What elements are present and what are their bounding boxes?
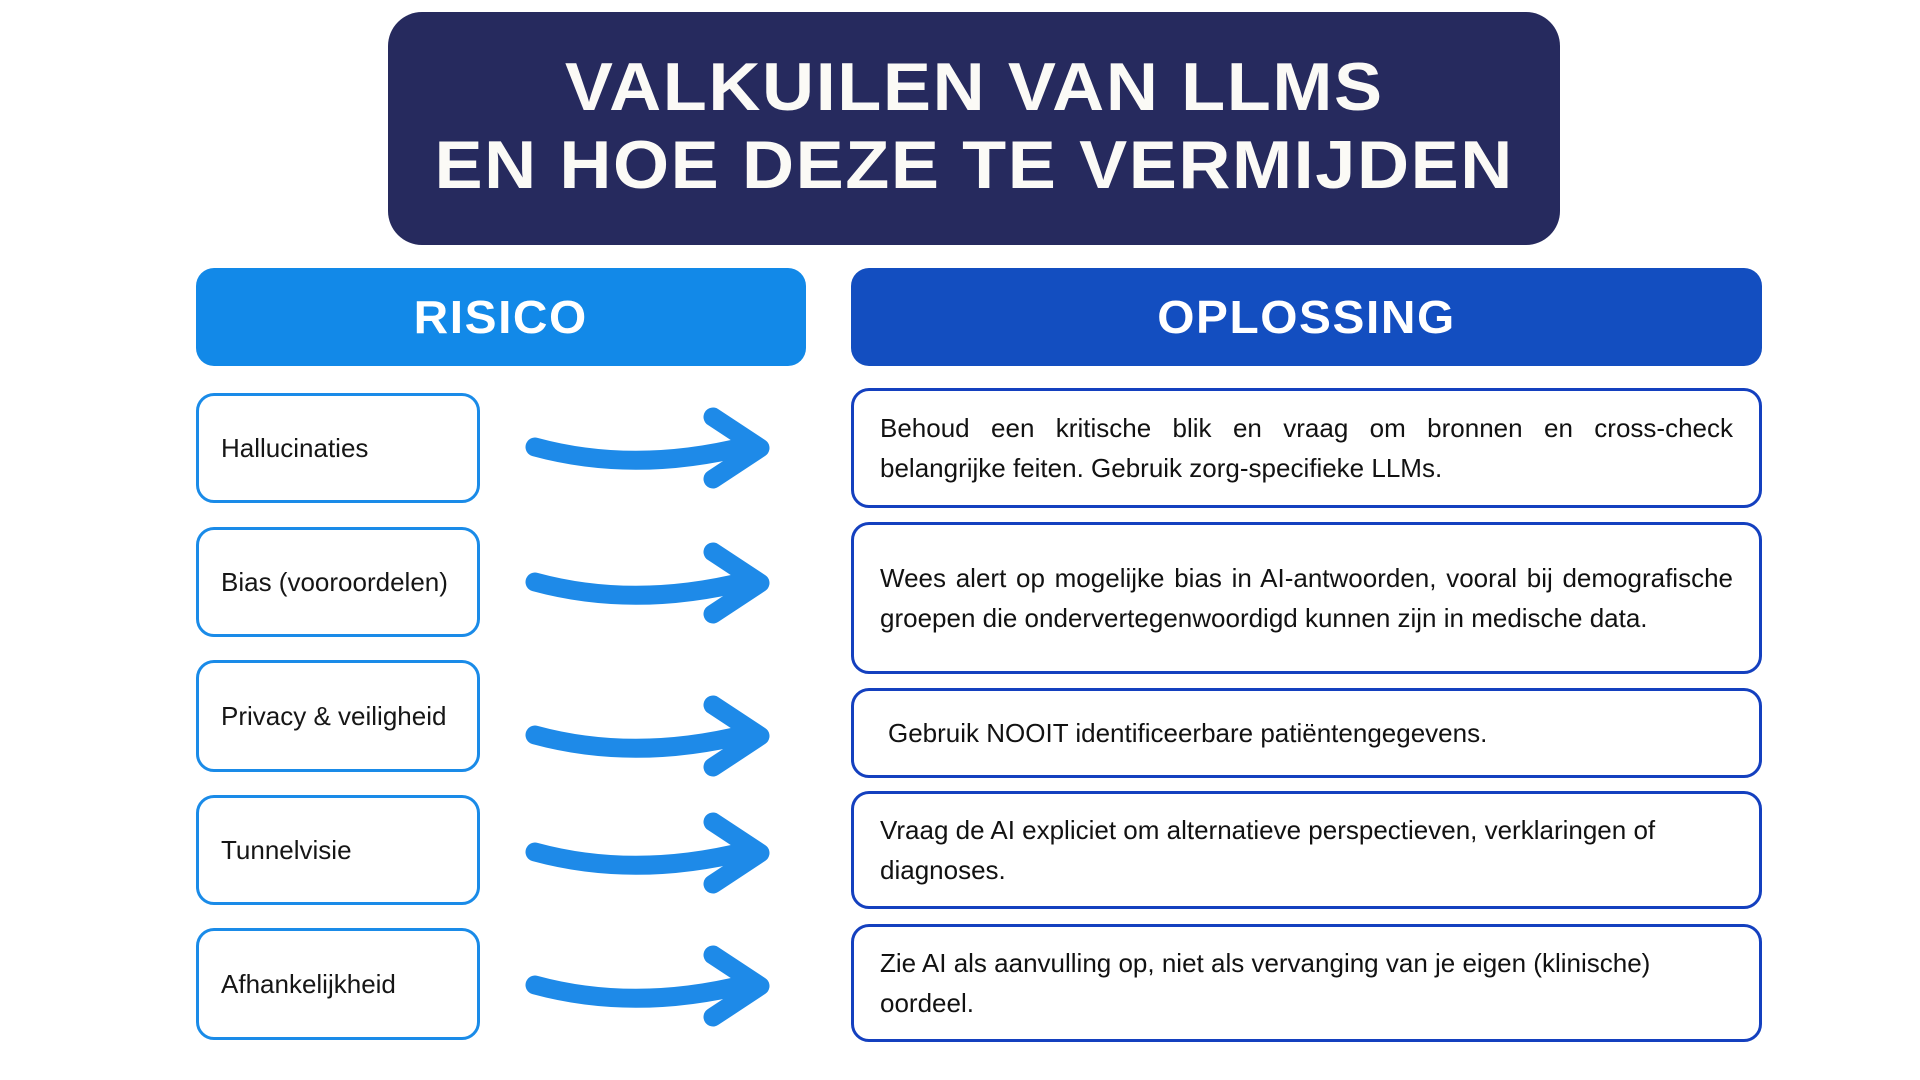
risk-box[interactable]: Privacy & veiligheid [196,660,480,772]
curved-arrow-right-icon [525,938,790,1034]
page-title-line-2: EN HOE DEZE TE VERMIJDEN [434,126,1513,204]
solution-text: Vraag de AI expliciet om alternatieve pe… [880,810,1733,890]
risk-label: Hallucinaties [221,431,368,465]
curved-arrow-right-icon [525,688,790,784]
solution-text: Wees alert op mogelijke bias in AI-antwo… [880,558,1733,638]
curved-arrow-right-icon [525,805,790,901]
risk-label: Bias (vooroordelen) [221,565,448,599]
solution-text: Gebruik NOOIT identificeerbare patiënten… [880,713,1487,753]
solution-box[interactable]: Zie AI als aanvulling op, niet als verva… [851,924,1762,1042]
risk-box[interactable]: Afhankelijkheid [196,928,480,1040]
column-header-risico: RISICO [196,268,806,366]
solution-box[interactable]: Behoud een kritische blik en vraag om br… [851,388,1762,508]
risk-label: Privacy & veiligheid [221,699,446,733]
column-header-oplossing: OPLOSSING [851,268,1762,366]
column-header-oplossing-label: OPLOSSING [1157,290,1455,344]
solution-box[interactable]: Wees alert op mogelijke bias in AI-antwo… [851,522,1762,674]
risk-box[interactable]: Tunnelvisie [196,795,480,905]
curved-arrow-right-icon [525,535,790,631]
column-header-risico-label: RISICO [414,290,588,344]
solution-box[interactable]: Vraag de AI expliciet om alternatieve pe… [851,791,1762,909]
risk-label: Afhankelijkheid [221,967,396,1001]
risk-label: Tunnelvisie [221,833,352,867]
solution-text: Zie AI als aanvulling op, niet als verva… [880,943,1733,1023]
risk-box[interactable]: Hallucinaties [196,393,480,503]
title-banner: VALKUILEN VAN LLMS EN HOE DEZE TE VERMIJ… [388,12,1560,245]
curved-arrow-right-icon [525,400,790,496]
infographic-page: VALKUILEN VAN LLMS EN HOE DEZE TE VERMIJ… [0,0,1920,1080]
solution-box[interactable]: Gebruik NOOIT identificeerbare patiënten… [851,688,1762,778]
risk-box[interactable]: Bias (vooroordelen) [196,527,480,637]
solution-text: Behoud een kritische blik en vraag om br… [880,408,1733,488]
page-title-line-1: VALKUILEN VAN LLMS [565,48,1384,126]
